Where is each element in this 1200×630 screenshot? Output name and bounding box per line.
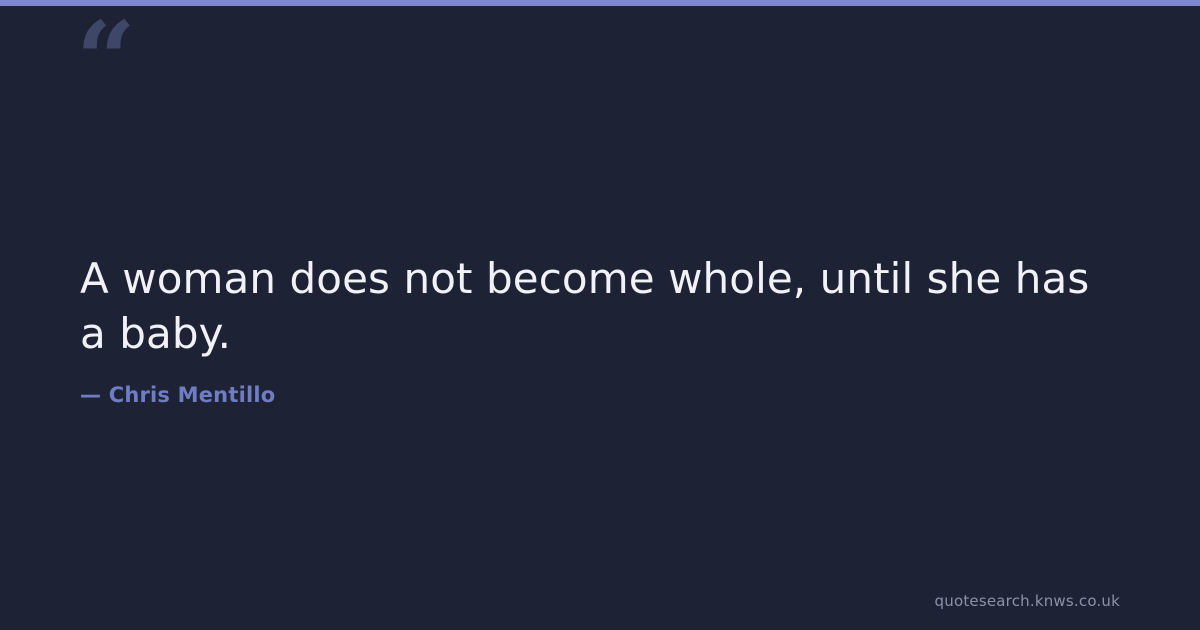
quote-attribution: — Chris Mentillo bbox=[80, 361, 1120, 408]
source-url: quotesearch.knws.co.uk bbox=[935, 592, 1120, 610]
open-quote-icon: “ bbox=[76, 8, 134, 112]
top-accent-bar bbox=[0, 0, 1200, 6]
quote-content: A woman does not become whole, until she… bbox=[80, 252, 1120, 408]
quote-card: “ A woman does not become whole, until s… bbox=[0, 0, 1200, 630]
quote-text: A woman does not become whole, until she… bbox=[80, 252, 1120, 361]
